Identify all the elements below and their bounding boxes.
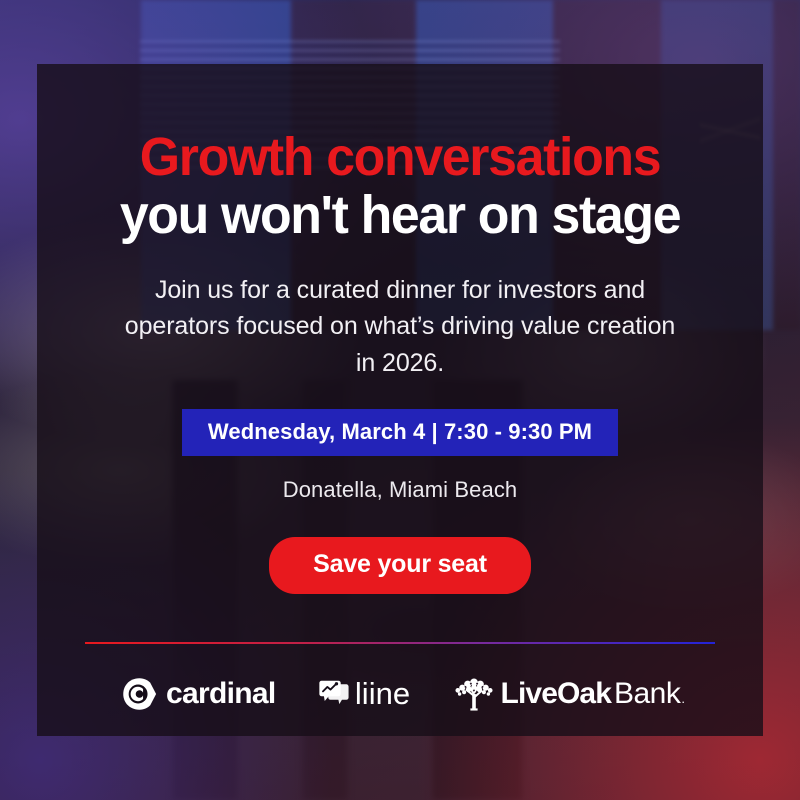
headline-line-1: Growth conversations [52,130,749,185]
content-panel: Growth conversations you won't hear on s… [37,64,763,736]
liveoak-bank-wordmark: LiveOak Bank . [501,677,685,711]
liine-wordmark: liine [355,676,410,712]
oak-tree-icon [454,676,494,712]
logo-cardinal[interactable]: cardinal [121,676,275,712]
event-invitation-poster: Growth conversations you won't hear on s… [0,0,800,800]
cardinal-bird-mark-icon [121,676,157,712]
speech-bubble-chart-icon [319,679,349,709]
logo-liine[interactable]: liine [319,676,410,712]
liveoak-wordmark-mark: . [681,691,685,706]
subheadline-text: Join us for a curated dinner for investo… [120,272,680,382]
save-your-seat-button[interactable]: Save your seat [269,537,531,594]
liveoak-wordmark-light: Bank [614,677,680,711]
gradient-divider [85,642,715,644]
logo-liveoak-bank[interactable]: LiveOak Bank . [454,676,685,712]
cardinal-wordmark: cardinal [166,677,275,711]
liveoak-wordmark-bold: LiveOak [501,677,611,711]
event-venue-text: Donatella, Miami Beach [283,477,518,503]
sponsor-logo-row: cardinal liine [85,676,715,712]
headline-line-2: you won't hear on stage [52,185,749,245]
headline: Growth conversations you won't hear on s… [37,130,763,246]
event-date-time-banner: Wednesday, March 4 | 7:30 - 9:30 PM [182,409,618,456]
